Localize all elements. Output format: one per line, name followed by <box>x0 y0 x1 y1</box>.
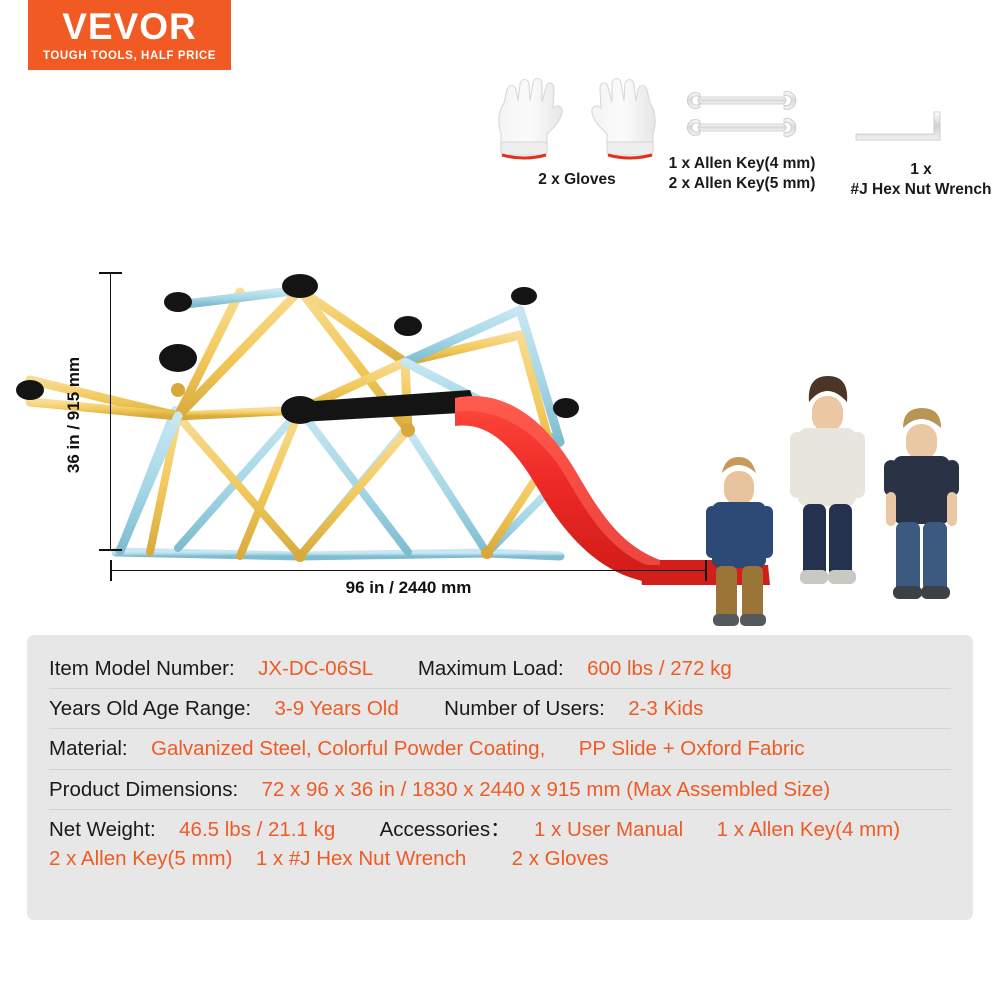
spec-value-material-1: Galvanized Steel, Colorful Powder Coatin… <box>151 737 545 760</box>
height-dimension-line <box>110 272 111 551</box>
spec-value-accessory-1: 1 x User Manual <box>534 818 683 841</box>
spec-value-age-range: 3-9 Years Old <box>275 697 399 720</box>
vevor-logo: VEVOR TOUGH TOOLS, HALF PRICE <box>28 0 231 70</box>
spec-row-age: Years Old Age Range: 3-9 Years Old Numbe… <box>49 689 951 729</box>
logo-tagline: TOUGH TOOLS, HALF PRICE <box>43 50 216 62</box>
child-older-boy <box>884 408 959 599</box>
spec-row-model: Item Model Number: JX-DC-06SL Maximum Lo… <box>49 649 951 689</box>
spec-value-max-load: 600 lbs / 272 kg <box>587 657 732 680</box>
spec-value-accessory-5: 2 x Gloves <box>512 847 609 870</box>
spec-row-weight-accessories: Net Weight: 46.5 lbs / 21.1 kg Accessori… <box>49 810 951 878</box>
gloves-icon <box>487 70 667 170</box>
logo-wordmark: VEVOR <box>62 8 197 45</box>
spec-label-users: Number of Users: <box>444 697 605 720</box>
spec-label-net-weight: Net Weight: <box>49 818 156 841</box>
spec-label-age-range: Years Old Age Range: <box>49 697 251 720</box>
spec-label-material: Material: <box>49 737 128 760</box>
spec-label-dimensions: Product Dimensions: <box>49 778 238 801</box>
wrench-caption-line2: 2 x Allen Key(5 mm) <box>662 174 822 194</box>
infographic-page: VEVOR TOUGH TOOLS, HALF PRICE <box>0 0 1000 1000</box>
child-girl <box>790 376 865 584</box>
spec-panel: Item Model Number: JX-DC-06SL Maximum Lo… <box>27 635 973 920</box>
spec-row-material: Material: Galvanized Steel, Colorful Pow… <box>49 729 951 769</box>
width-dimension-label: 96 in / 2440 mm <box>110 578 707 598</box>
wrench-icon <box>662 84 822 154</box>
accessory-gloves: 2 x Gloves <box>487 70 667 190</box>
spec-label-model: Item Model Number: <box>49 657 235 680</box>
spec-value-material-2: PP Slide + Oxford Fabric <box>579 737 805 760</box>
height-dimension-label: 36 in / 915 mm <box>62 300 86 530</box>
hex-caption-line1: 1 x <box>846 160 996 180</box>
width-dimension-line <box>110 570 707 571</box>
spec-value-users: 2-3 Kids <box>628 697 703 720</box>
spec-value-net-weight: 46.5 lbs / 21.1 kg <box>179 818 335 841</box>
spec-label-accessories: Accessories： <box>380 818 511 841</box>
accessory-hex-wrench: 1 x #J Hex Nut Wrench <box>846 90 996 201</box>
product-illustration <box>0 230 1000 620</box>
spec-row-dimensions: Product Dimensions: 72 x 96 x 36 in / 18… <box>49 770 951 810</box>
accessory-wrenches: 1 x Allen Key(4 mm) 2 x Allen Key(5 mm) <box>662 84 822 195</box>
spec-value-accessory-2: 1 x Allen Key(4 mm) <box>717 818 900 841</box>
spec-value-accessory-3: 2 x Allen Key(5 mm) <box>49 847 232 870</box>
spec-value-model: JX-DC-06SL <box>258 657 372 680</box>
spec-label-max-load: Maximum Load: <box>418 657 564 680</box>
wrench-caption-line1: 1 x Allen Key(4 mm) <box>662 154 822 174</box>
hex-key-icon <box>846 90 996 160</box>
child-small-boy <box>706 457 773 626</box>
spec-value-dimensions: 72 x 96 x 36 in / 1830 x 2440 x 915 mm (… <box>262 778 831 801</box>
gloves-caption: 2 x Gloves <box>487 170 667 190</box>
hex-caption-line2: #J Hex Nut Wrench <box>846 180 996 200</box>
spec-value-accessory-4: 1 x #J Hex Nut Wrench <box>256 847 466 870</box>
